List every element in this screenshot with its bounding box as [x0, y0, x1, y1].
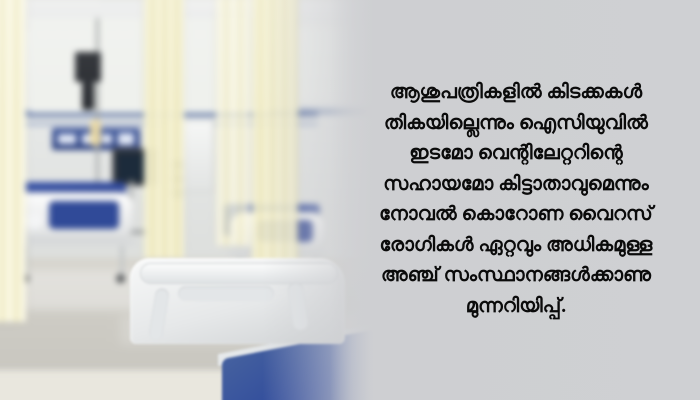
headline-line: രോഗികൾ ഏറ്റവും അധികമുള്ള	[344, 231, 688, 262]
headline-panel: ആശുപത്രികളിൽ കിടക്കകൾ തികയില്ലെന്നും ഐസി…	[330, 0, 700, 400]
headline-line: മുന്നറിയിപ്പ്.	[344, 292, 688, 323]
headline-text: ആശുപത്രികളിൽ കിടക്കകൾ തികയില്ലെന്നും ഐസി…	[344, 78, 688, 322]
headline-line: നോവൽ കൊറോണ വൈറസ്	[344, 200, 688, 231]
headline-line: തികയില്ലെന്നും ഐസിയുവിൽ	[344, 109, 688, 140]
news-graphic-root: ആശുപത്രികളിൽ കിടക്കകൾ തികയില്ലെന്നും ഐസി…	[0, 0, 700, 400]
headline-line: ആശുപത്രികളിൽ കിടക്കകൾ	[344, 78, 688, 109]
headline-line: ഇടമോ വെന്റിലേറ്ററിന്റെ	[344, 139, 688, 170]
headline-line: അഞ്ച് സംസ്ഥാനങ്ങൾക്കാണു	[344, 261, 688, 292]
photo-fade-to-panel	[0, 0, 375, 400]
hospital-icu-ward-photo	[0, 0, 375, 400]
headline-line: സഹായമോ കിട്ടാതാവുമെന്നും	[344, 170, 688, 201]
